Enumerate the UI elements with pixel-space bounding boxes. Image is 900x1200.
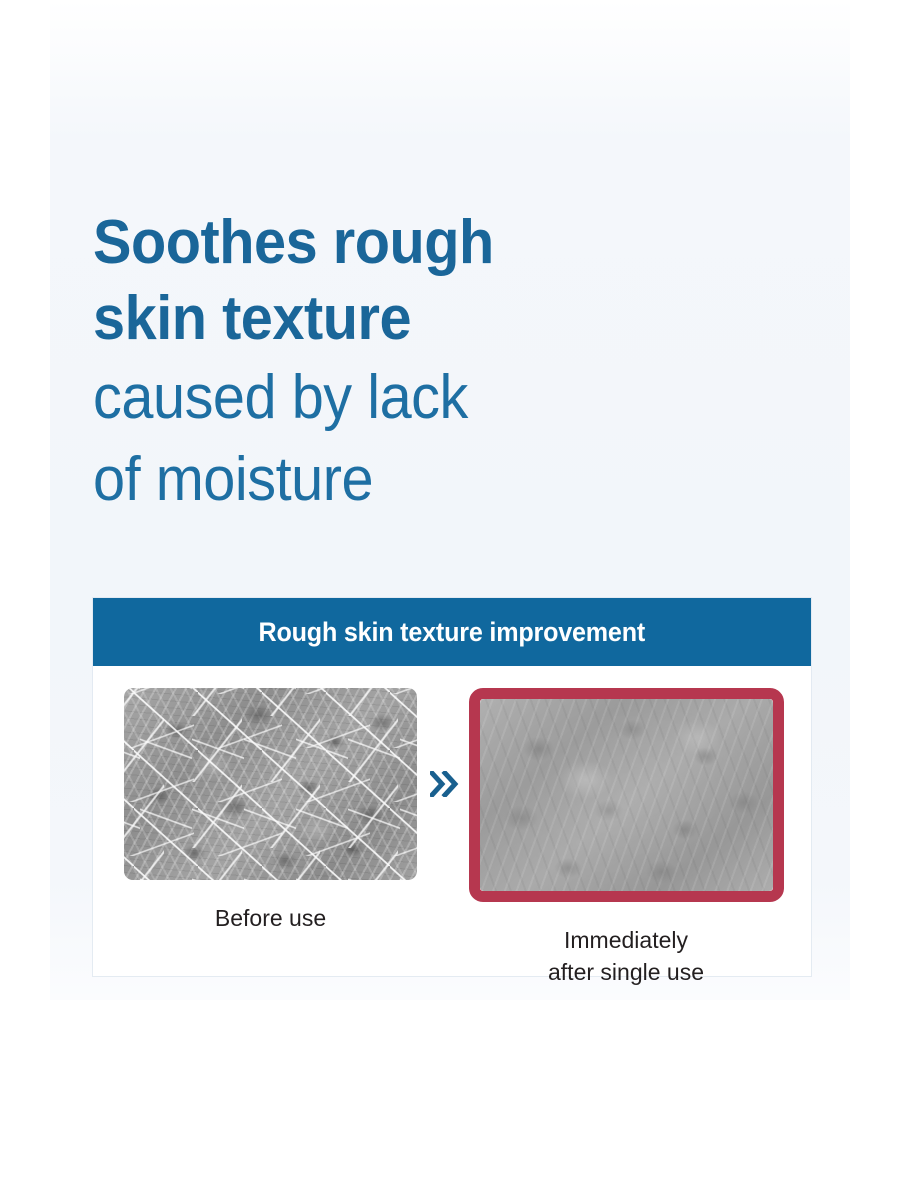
before-after-comparison: Before use Immediately — [93, 688, 811, 988]
headline-line-3: caused by lack — [93, 357, 688, 439]
after-caption: Immediately after single use — [476, 924, 776, 988]
after-column: Immediately after single use — [469, 688, 784, 988]
card-body: Before use Immediately — [93, 666, 811, 976]
double-chevron-right-icon — [430, 771, 460, 797]
before-caption-line-1: Before use — [121, 902, 421, 934]
promo-page: Soothes rough skin texture caused by lac… — [0, 0, 900, 1200]
before-column: Before use — [121, 688, 421, 934]
after-skin-image — [480, 699, 773, 891]
page-title: Soothes rough skin texture caused by lac… — [93, 205, 733, 521]
after-image-highlight-frame — [469, 688, 784, 902]
headline-line-1: Soothes rough — [93, 205, 688, 281]
before-caption: Before use — [121, 902, 421, 934]
card-banner-title: Rough skin texture improvement — [259, 617, 645, 648]
arrow-cell — [421, 688, 469, 880]
before-skin-image — [124, 688, 417, 880]
after-caption-line-2: after single use — [476, 956, 776, 988]
headline-line-2: skin texture — [93, 281, 688, 357]
result-card: Rough skin texture improvement Before us… — [93, 598, 811, 976]
headline-line-4: of moisture — [93, 439, 688, 521]
after-caption-line-1: Immediately — [476, 924, 776, 956]
card-banner: Rough skin texture improvement — [93, 598, 811, 666]
